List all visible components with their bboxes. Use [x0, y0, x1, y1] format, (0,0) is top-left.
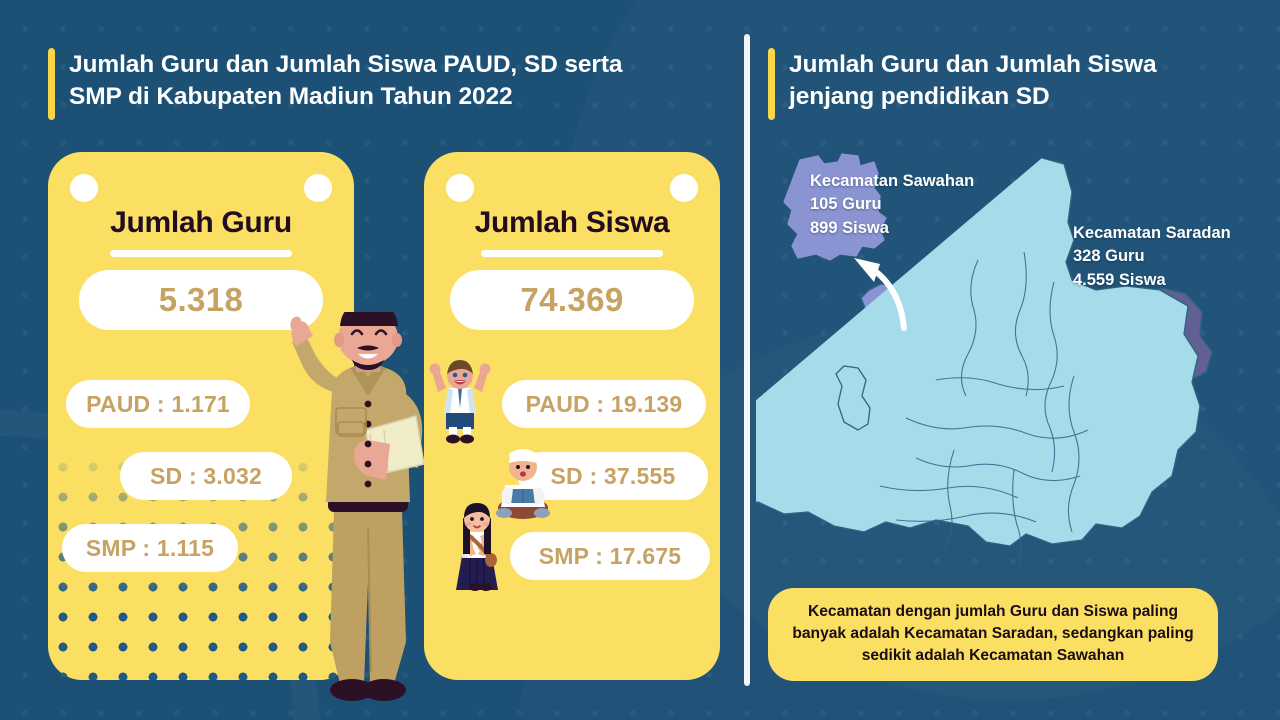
card-title-underline	[110, 250, 292, 257]
vertical-divider	[744, 34, 750, 686]
card-title-siswa: Jumlah Siswa	[424, 206, 720, 240]
card-title-underline	[481, 250, 663, 257]
card-punch-hole-right	[670, 174, 698, 202]
breakdown-pill-guru-paud: PAUD : 1.171	[66, 380, 250, 428]
map-label-saradan: Kecamatan Saradan 328 Guru 4.559 Siswa	[1073, 222, 1231, 292]
breakdown-pill-siswa-paud: PAUD : 19.139	[502, 380, 706, 428]
left-panel-heading: Jumlah Guru dan Jumlah Siswa PAUD, SD se…	[48, 48, 622, 120]
heading-accent-bar	[768, 48, 775, 120]
heading-accent-bar	[48, 48, 55, 120]
map-label-sawahan: Kecamatan Sawahan 105 Guru 899 Siswa	[810, 170, 974, 240]
student-boy-illustration	[428, 358, 492, 444]
card-title-guru: Jumlah Guru	[48, 206, 354, 240]
right-heading-text: Jumlah Guru dan Jumlah Siswa jenjang pen…	[789, 48, 1157, 120]
summary-callout: Kecamatan dengan jumlah Guru dan Siswa p…	[768, 588, 1218, 681]
card-punch-hole-right	[304, 174, 332, 202]
breakdown-pill-guru-sd: SD : 3.032	[120, 452, 292, 500]
infographic-canvas: Jumlah Guru dan Jumlah Siswa PAUD, SD se…	[0, 0, 1280, 720]
student-girl-illustration	[450, 500, 504, 596]
card-punch-hole-left	[446, 174, 474, 202]
breakdown-pill-siswa-smp: SMP : 17.675	[510, 532, 710, 580]
breakdown-pill-guru-smp: SMP : 1.115	[62, 524, 238, 572]
left-heading-text: Jumlah Guru dan Jumlah Siswa PAUD, SD se…	[69, 48, 622, 120]
right-panel-heading: Jumlah Guru dan Jumlah Siswa jenjang pen…	[768, 48, 1157, 120]
card-punch-hole-left	[70, 174, 98, 202]
total-value-siswa: 74.369	[450, 270, 694, 330]
